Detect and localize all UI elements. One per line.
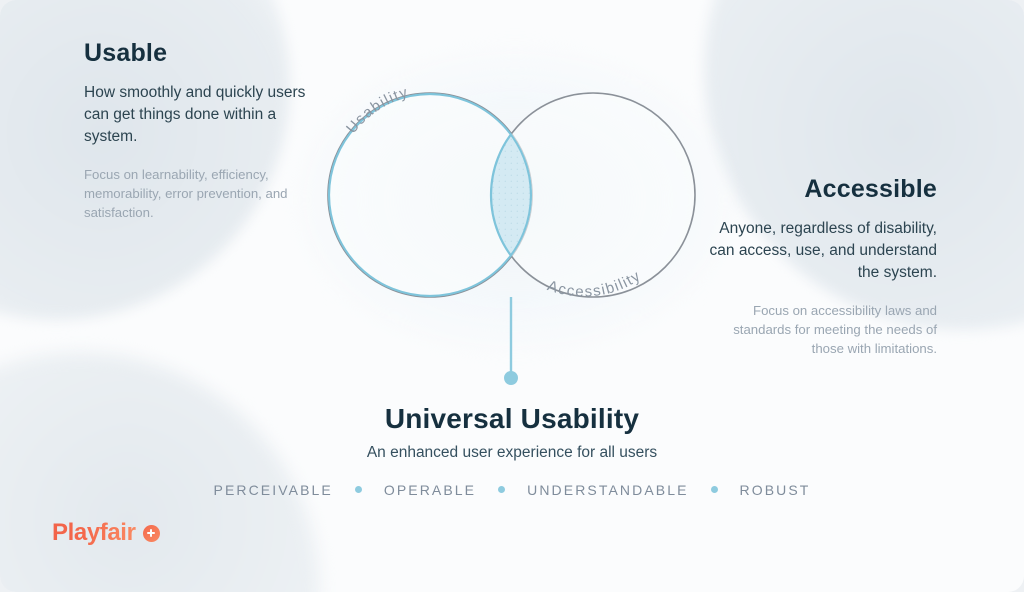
usable-sub-text: Focus on learnability, efficiency, memor… <box>84 165 314 222</box>
principle-operable: OPERABLE <box>384 482 476 498</box>
accessible-title: Accessible <box>707 176 937 204</box>
plus-circle-icon <box>143 525 160 542</box>
accessible-sub-text: Focus on accessibility laws and standard… <box>707 301 937 358</box>
accessible-lead-text: Anyone, regardless of disability, can ac… <box>707 218 937 284</box>
accessible-column: Accessible Anyone, regardless of disabil… <box>707 176 937 358</box>
playfair-logo[interactable]: Playfair <box>52 521 160 545</box>
venn-diagram: Usability Accessibility <box>300 60 730 400</box>
usable-title: Usable <box>84 40 314 68</box>
principle-understandable: UNDERSTANDABLE <box>527 482 688 498</box>
principle-separator-dot <box>498 486 505 493</box>
principle-separator-dot <box>355 486 362 493</box>
usable-column: Usable How smoothly and quickly users ca… <box>84 40 314 222</box>
universal-usability-section: Universal Usability An enhanced user exp… <box>0 402 1024 498</box>
principles-row: PERCEIVABLE OPERABLE UNDERSTANDABLE ROBU… <box>0 482 1024 498</box>
connector-node-dot <box>504 371 518 385</box>
logo-wordmark: Playfair <box>52 521 136 545</box>
universal-usability-subtitle: An enhanced user experience for all user… <box>0 444 1024 462</box>
principle-robust: ROBUST <box>740 482 811 498</box>
infographic-card: Usable How smoothly and quickly users ca… <box>0 0 1024 592</box>
usable-lead-text: How smoothly and quickly users can get t… <box>84 82 314 148</box>
principle-perceivable: PERCEIVABLE <box>214 482 333 498</box>
universal-usability-title: Universal Usability <box>0 402 1024 436</box>
principle-separator-dot <box>711 486 718 493</box>
